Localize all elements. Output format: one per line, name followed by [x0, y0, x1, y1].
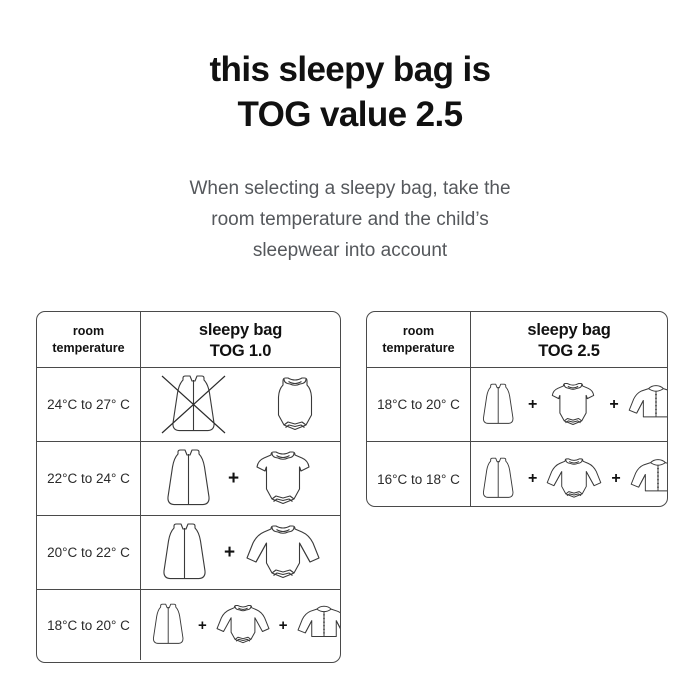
page-subtitle-line-2: room temperature and the child’s [0, 205, 700, 236]
table-header-row: room temperature sleepy bag TOG 1.0 [37, 312, 340, 368]
plus-separator: + [227, 469, 240, 488]
tog-1-table: room temperature sleepy bag TOG 1.0 24°C… [36, 311, 341, 663]
row-garments: + + [471, 368, 668, 441]
row-garments [141, 368, 340, 441]
plus-separator: + [223, 543, 236, 562]
page-title-line-2: TOG value 2.5 [0, 93, 700, 138]
row-garments: + + [471, 442, 668, 507]
sleeping-bag-icon [477, 375, 523, 435]
header-room-temperature-line-1: room [52, 323, 124, 340]
bodysuit-long-sleeve-icon [212, 596, 274, 654]
header-sleepy-bag-line-2: TOG 2.5 [477, 341, 661, 362]
header-sleepy-bag-line-2: TOG 1.0 [147, 341, 334, 362]
bodysuit-long-sleeve-icon [542, 449, 606, 507]
sleeping-bag-icon [155, 521, 219, 585]
table-row: 20°C to 22° C + [37, 516, 340, 590]
plus-separator: + [608, 397, 619, 413]
row-temperature: 22°C to 24° C [37, 442, 141, 515]
table-header-row: room temperature sleepy bag TOG 2.5 [367, 312, 667, 368]
row-garments: + [141, 442, 340, 515]
table-row: 16°C to 18° C + [367, 442, 667, 507]
row-temperature: 16°C to 18° C [367, 442, 471, 507]
row-temperature: 18°C to 20° C [37, 590, 141, 660]
row-garments: + [141, 516, 340, 589]
table-row: 24°C to 27° C [37, 368, 340, 442]
header-room-temperature-line-2: temperature [52, 340, 124, 357]
plus-separator: + [527, 397, 538, 413]
header-sleepy-bag-tog: sleepy bag TOG 2.5 [471, 312, 667, 367]
header-room-temperature-line-1: room [382, 323, 454, 340]
page-subtitle-line-1: When selecting a sleepy bag, take the [0, 174, 700, 205]
header-sleepy-bag-line-1: sleepy bag [147, 320, 334, 341]
sleeping-bag-crossed-out-icon [156, 373, 234, 437]
bodysuit-sleeveless-icon [264, 373, 326, 437]
cardigan-icon [293, 596, 341, 654]
sleeping-bag-icon [147, 596, 193, 654]
cardigan-icon [624, 375, 668, 435]
cardigan-icon [626, 449, 668, 507]
table-row: 22°C to 24° C + [37, 442, 340, 516]
plus-separator: + [278, 618, 289, 633]
plus-separator: + [197, 618, 208, 633]
page-title: this sleepy bag is TOG value 2.5 [0, 48, 700, 138]
header-room-temperature: room temperature [37, 312, 141, 367]
table-row: 18°C to 20° C + [37, 590, 340, 660]
bodysuit-short-sleeve-icon [542, 375, 604, 435]
page-title-line-1: this sleepy bag is [0, 48, 700, 93]
sleeping-bag-icon [477, 449, 523, 507]
row-garments: + + [141, 590, 341, 660]
bodysuit-long-sleeve-icon [240, 521, 326, 585]
table-row: 18°C to 20° C + [367, 368, 667, 442]
tog-2-5-table: room temperature sleepy bag TOG 2.5 18°C… [366, 311, 668, 507]
plus-separator: + [610, 471, 621, 487]
page-subtitle-line-3: sleepwear into account [0, 236, 700, 267]
page-subtitle: When selecting a sleepy bag, take the ro… [0, 174, 700, 266]
header-room-temperature-line-2: temperature [382, 340, 454, 357]
bodysuit-short-sleeve-icon [244, 447, 322, 511]
header-sleepy-bag-line-1: sleepy bag [477, 320, 661, 341]
header-room-temperature: room temperature [367, 312, 471, 367]
row-temperature: 24°C to 27° C [37, 368, 141, 441]
header-sleepy-bag-tog: sleepy bag TOG 1.0 [141, 312, 340, 367]
sleeping-bag-icon [159, 447, 223, 511]
plus-separator: + [527, 471, 538, 487]
row-temperature: 18°C to 20° C [367, 368, 471, 441]
row-temperature: 20°C to 22° C [37, 516, 141, 589]
